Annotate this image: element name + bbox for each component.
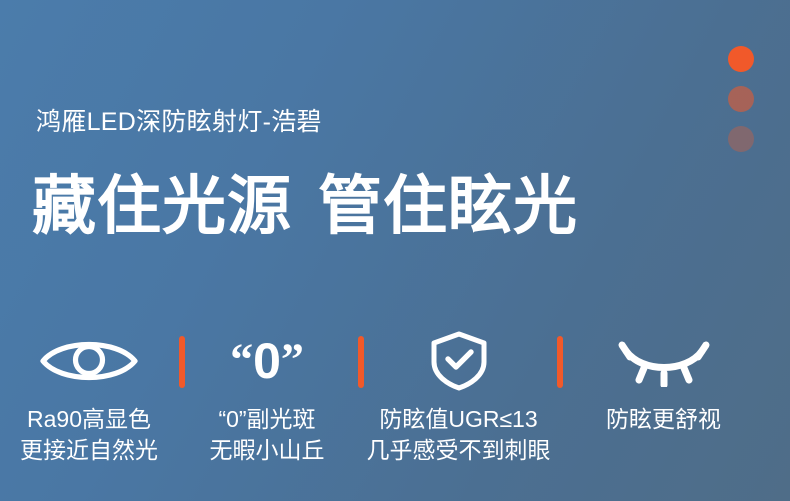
feature-caption-line1: 防眩值UGR≤13	[356, 404, 561, 435]
shield-check-icon	[356, 330, 561, 392]
feature-caption-line2: 更接近自然光	[0, 435, 178, 466]
dot-tertiary	[728, 126, 754, 152]
feature-item-zero-spot: “0” “0”副光斑 无暇小山丘	[178, 330, 356, 466]
feature-item-comfort: 防眩更舒视	[561, 330, 766, 435]
quote-close: ”	[281, 333, 304, 384]
zero-quote-mark: “0”	[178, 330, 356, 392]
headline-part-2: 管住眩光	[318, 170, 578, 242]
zero-glyph: 0	[253, 333, 281, 389]
dot-secondary	[728, 86, 754, 112]
headline-part-1: 藏住光源	[32, 170, 292, 242]
page-title: 藏住光源管住眩光	[32, 172, 578, 241]
feature-caption-line1: 防眩更舒视	[561, 404, 766, 435]
feature-list: Ra90高显色 更接近自然光 “0” “0”副光斑 无暇小山丘 防眩值UGR≤1…	[0, 330, 790, 466]
feature-caption-line2: 无暇小山丘	[178, 435, 356, 466]
decorative-dot-stack	[728, 46, 754, 166]
feature-item-color-rendering: Ra90高显色 更接近自然光	[0, 330, 178, 466]
feature-caption-line1: “0”副光斑	[178, 404, 356, 435]
product-banner: 鸿雁LED深防眩射灯-浩碧 藏住光源管住眩光 Ra90高显色 更接近自然光 “0…	[0, 0, 790, 501]
closed-eye-icon	[561, 330, 766, 392]
dot-primary	[728, 46, 754, 72]
open-eye-icon	[0, 330, 178, 392]
brand-subtitle: 鸿雁LED深防眩射灯-浩碧	[36, 102, 322, 138]
feature-caption-line2: 几乎感受不到刺眼	[356, 435, 561, 466]
feature-caption-line1: Ra90高显色	[0, 404, 178, 435]
feature-item-ugr-rating: 防眩值UGR≤13 几乎感受不到刺眼	[356, 330, 561, 466]
quote-open: “	[230, 333, 253, 384]
